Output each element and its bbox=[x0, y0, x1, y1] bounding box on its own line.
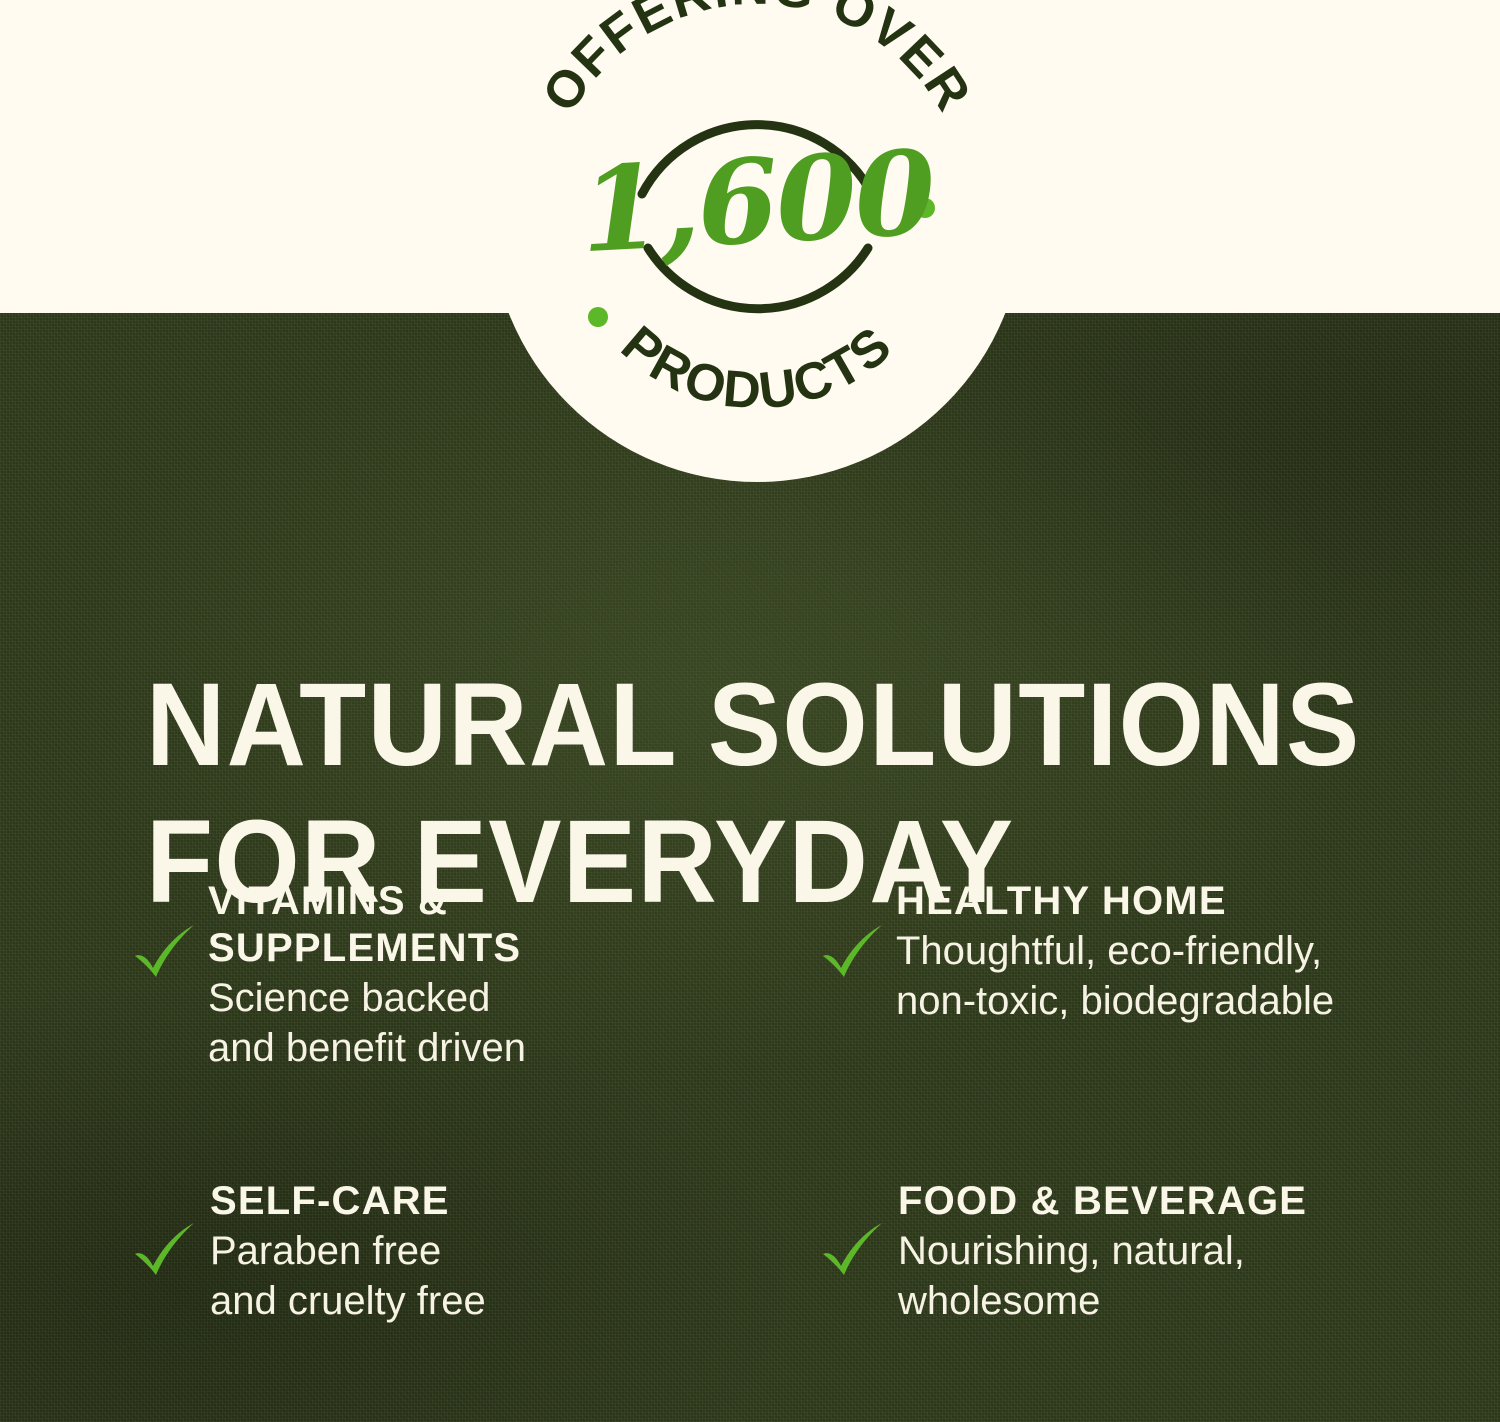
feature-title: HEALTHY HOME bbox=[896, 878, 1334, 925]
feature-item-self-care: SELF-CARE Paraben free and cruelty free bbox=[132, 1176, 792, 1326]
check-icon bbox=[820, 922, 886, 988]
feature-description: Paraben free and cruelty free bbox=[210, 1227, 486, 1326]
feature-title: VITAMINS & SUPPLEMENTS bbox=[208, 878, 526, 972]
feature-title: FOOD & BEVERAGE bbox=[898, 1178, 1307, 1225]
feature-title: SELF-CARE bbox=[210, 1178, 486, 1225]
offering-products-badge: OFFERING OVER PRODUCTS 1,600 bbox=[490, 0, 1024, 482]
badge-dot-left bbox=[588, 307, 608, 327]
feature-item-vitamins-supplements: VITAMINS & SUPPLEMENTS Science backed an… bbox=[132, 876, 792, 1176]
check-icon bbox=[820, 1220, 886, 1286]
promo-poster: OFFERING OVER PRODUCTS 1,600 NATURAL SOL… bbox=[0, 0, 1500, 1422]
feature-item-food-beverage: FOOD & BEVERAGE Nourishing, natural, who… bbox=[792, 1176, 1452, 1326]
feature-description: Science backed and benefit driven bbox=[208, 974, 526, 1073]
badge-top-arc-text: OFFERING OVER bbox=[532, 0, 983, 122]
feature-item-healthy-home: HEALTHY HOME Thoughtful, eco-friendly, n… bbox=[792, 876, 1452, 1176]
check-icon bbox=[132, 922, 198, 988]
headline-line-1: NATURAL SOLUTIONS bbox=[146, 657, 1318, 794]
feature-description: Thoughtful, eco-friendly, non-toxic, bio… bbox=[896, 927, 1334, 1026]
feature-grid: VITAMINS & SUPPLEMENTS Science backed an… bbox=[132, 876, 1452, 1326]
check-icon bbox=[132, 1220, 198, 1286]
feature-description: Nourishing, natural, wholesome bbox=[898, 1227, 1307, 1326]
badge-bottom-arc-text: PRODUCTS bbox=[611, 315, 904, 421]
